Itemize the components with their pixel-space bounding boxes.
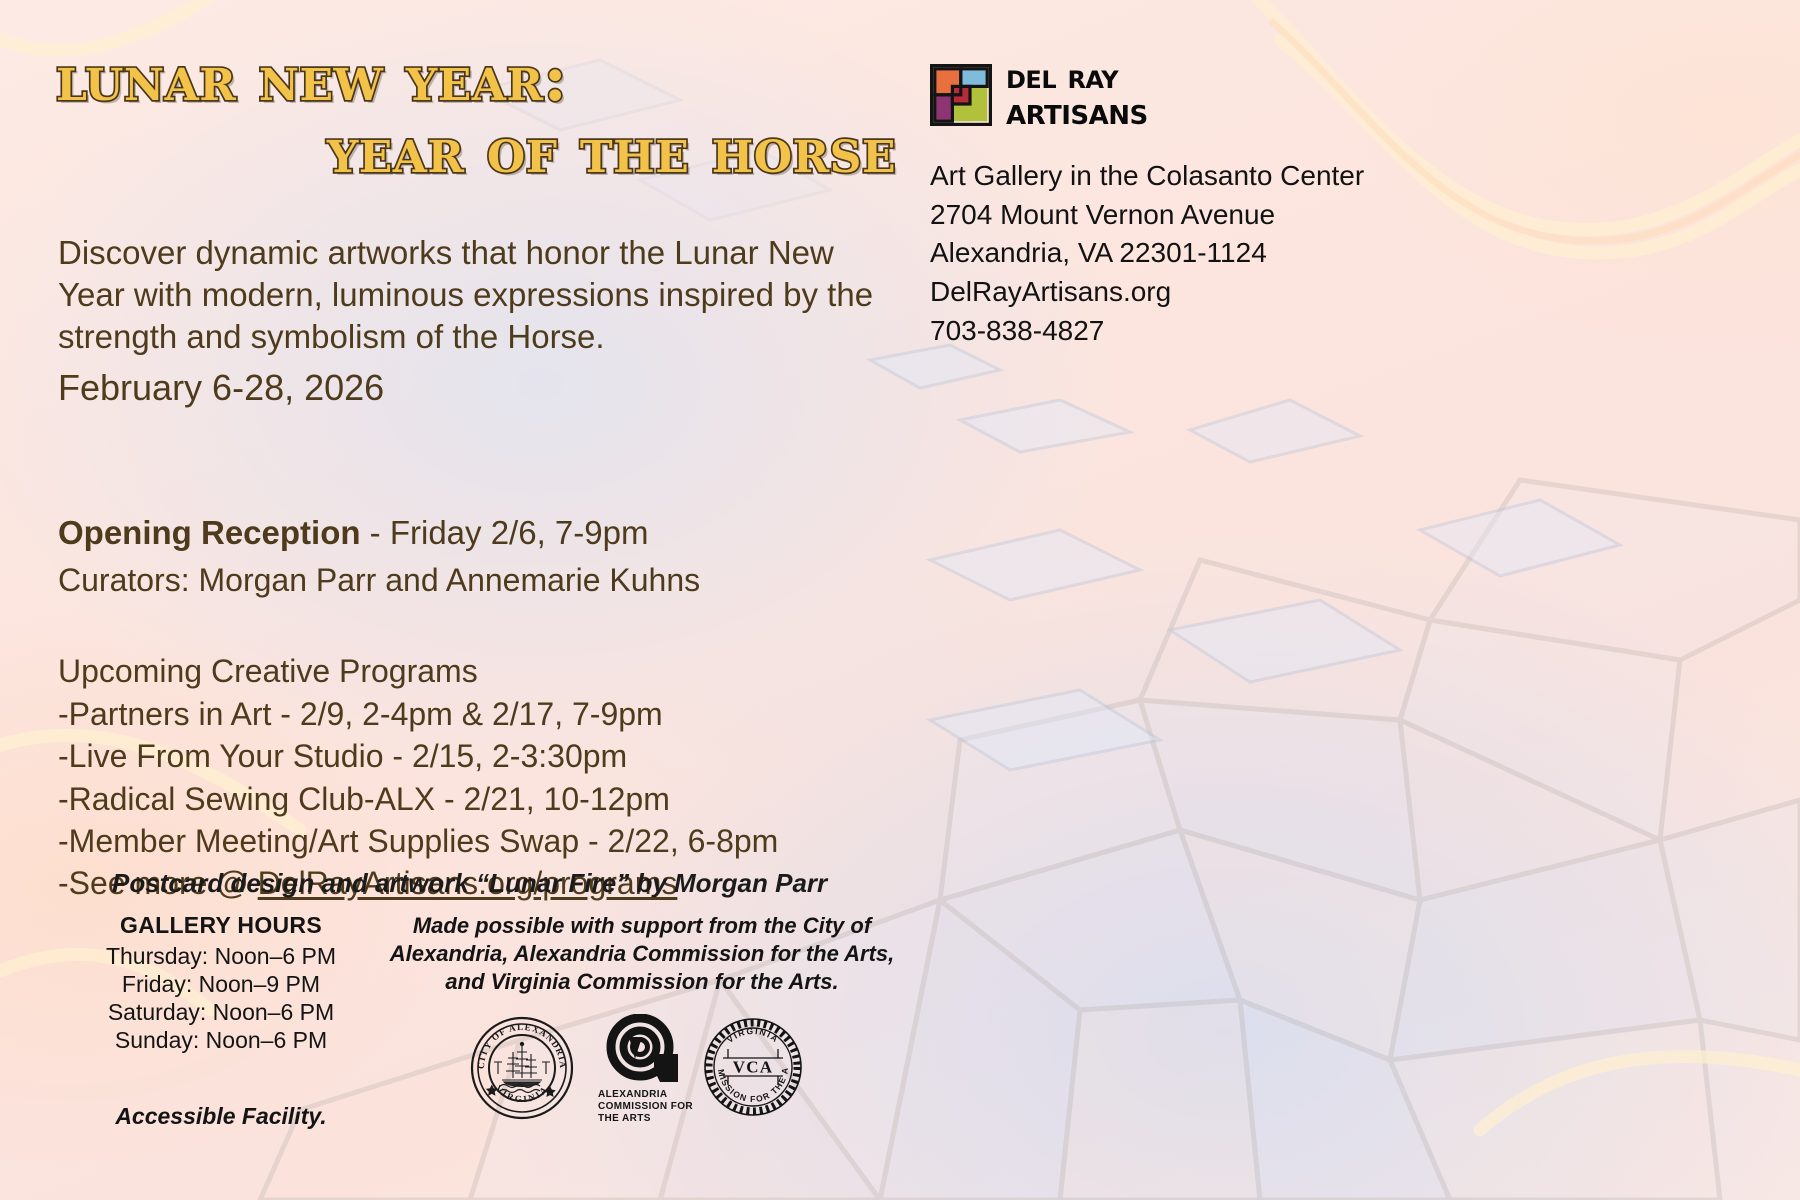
alexandria-commission-caption: ALEXANDRIA COMMISSION FOR THE ARTS (598, 1089, 694, 1126)
gallery-hours-row: Sunday: Noon–6 PM (96, 1026, 346, 1054)
gallery-hours-row: Thursday: Noon–6 PM (96, 942, 346, 970)
artwork-credit: Postcard design and artwork “Lunar Fire”… (112, 868, 827, 899)
venue-phone[interactable]: 703-838-4827 (930, 312, 1364, 351)
venue-line-3: Alexandria, VA 22301-1124 (930, 234, 1364, 273)
programs-heading: Upcoming Creative Programs (58, 650, 778, 692)
program-item: -Partners in Art - 2/9, 2-4pm & 2/17, 7-… (58, 693, 778, 735)
opening-reception: Opening Reception - Friday 2/6, 7-9pm (58, 514, 648, 552)
page-title: Lunar New Year: Year of the Horse (56, 46, 896, 183)
exhibit-description: Discover dynamic artworks that honor the… (58, 232, 903, 358)
opening-reception-details: - Friday 2/6, 7-9pm (361, 514, 649, 551)
del-ray-artisans-wordmark: Del Ray Artisans (1006, 62, 1148, 128)
venue-line-2: 2704 Mount Vernon Avenue (930, 196, 1364, 235)
wordmark-line-1: Del Ray (1006, 62, 1148, 93)
program-item: -Radical Sewing Club-ALX - 2/21, 10-12pm (58, 778, 778, 820)
gallery-hours-block: GALLERY HOURS Thursday: Noon–6 PM Friday… (96, 912, 346, 1054)
accessible-facility-note: Accessible Facility. (96, 1103, 346, 1130)
gallery-hours-row: Saturday: Noon–6 PM (96, 998, 346, 1026)
city-of-alexandria-seal-icon: CITY OF ALEXANDRIA VIRGINIA (470, 1016, 574, 1120)
program-item: -Member Meeting/Art Supplies Swap - 2/22… (58, 820, 778, 862)
wordmark-line-2: Artisans (1006, 95, 1148, 128)
program-item: -Live From Your Studio - 2/15, 2-3:30pm (58, 735, 778, 777)
alexandria-commission-for-the-arts-logo-icon (598, 1014, 690, 1088)
svg-text:VCA: VCA (733, 1058, 773, 1077)
exhibit-dates: February 6-28, 2026 (58, 367, 384, 409)
venue-line-1: Art Gallery in the Colasanto Center (930, 157, 1364, 196)
virginia-commission-for-the-arts-seal-icon: VIRGINIA COMMISSION FOR THE ARTS VCA (702, 1016, 804, 1118)
gallery-hours-title: GALLERY HOURS (96, 912, 346, 939)
curators-line: Curators: Morgan Parr and Annemarie Kuhn… (58, 562, 700, 599)
opening-reception-label: Opening Reception (58, 514, 361, 551)
venue-website[interactable]: DelRayArtisans.org (930, 273, 1364, 312)
del-ray-artisans-brand: Del Ray Artisans (930, 62, 1148, 128)
title-line-2: Year of the Horse (56, 118, 896, 182)
title-line-1: Lunar New Year: (56, 46, 896, 110)
gallery-hours-row: Friday: Noon–9 PM (96, 970, 346, 998)
color-blocks-square-icon (930, 64, 992, 126)
lunar-new-year-postcard: Lunar New Year: Year of the Horse Discov… (0, 0, 1800, 1200)
upcoming-programs-list: Upcoming Creative Programs -Partners in … (58, 650, 778, 904)
funding-support-note: Made possible with support from the City… (388, 912, 896, 996)
venue-address-block: Art Gallery in the Colasanto Center 2704… (930, 157, 1364, 350)
funder-seals-row: CITY OF ALEXANDRIA VIRGINIA (470, 1012, 770, 1132)
